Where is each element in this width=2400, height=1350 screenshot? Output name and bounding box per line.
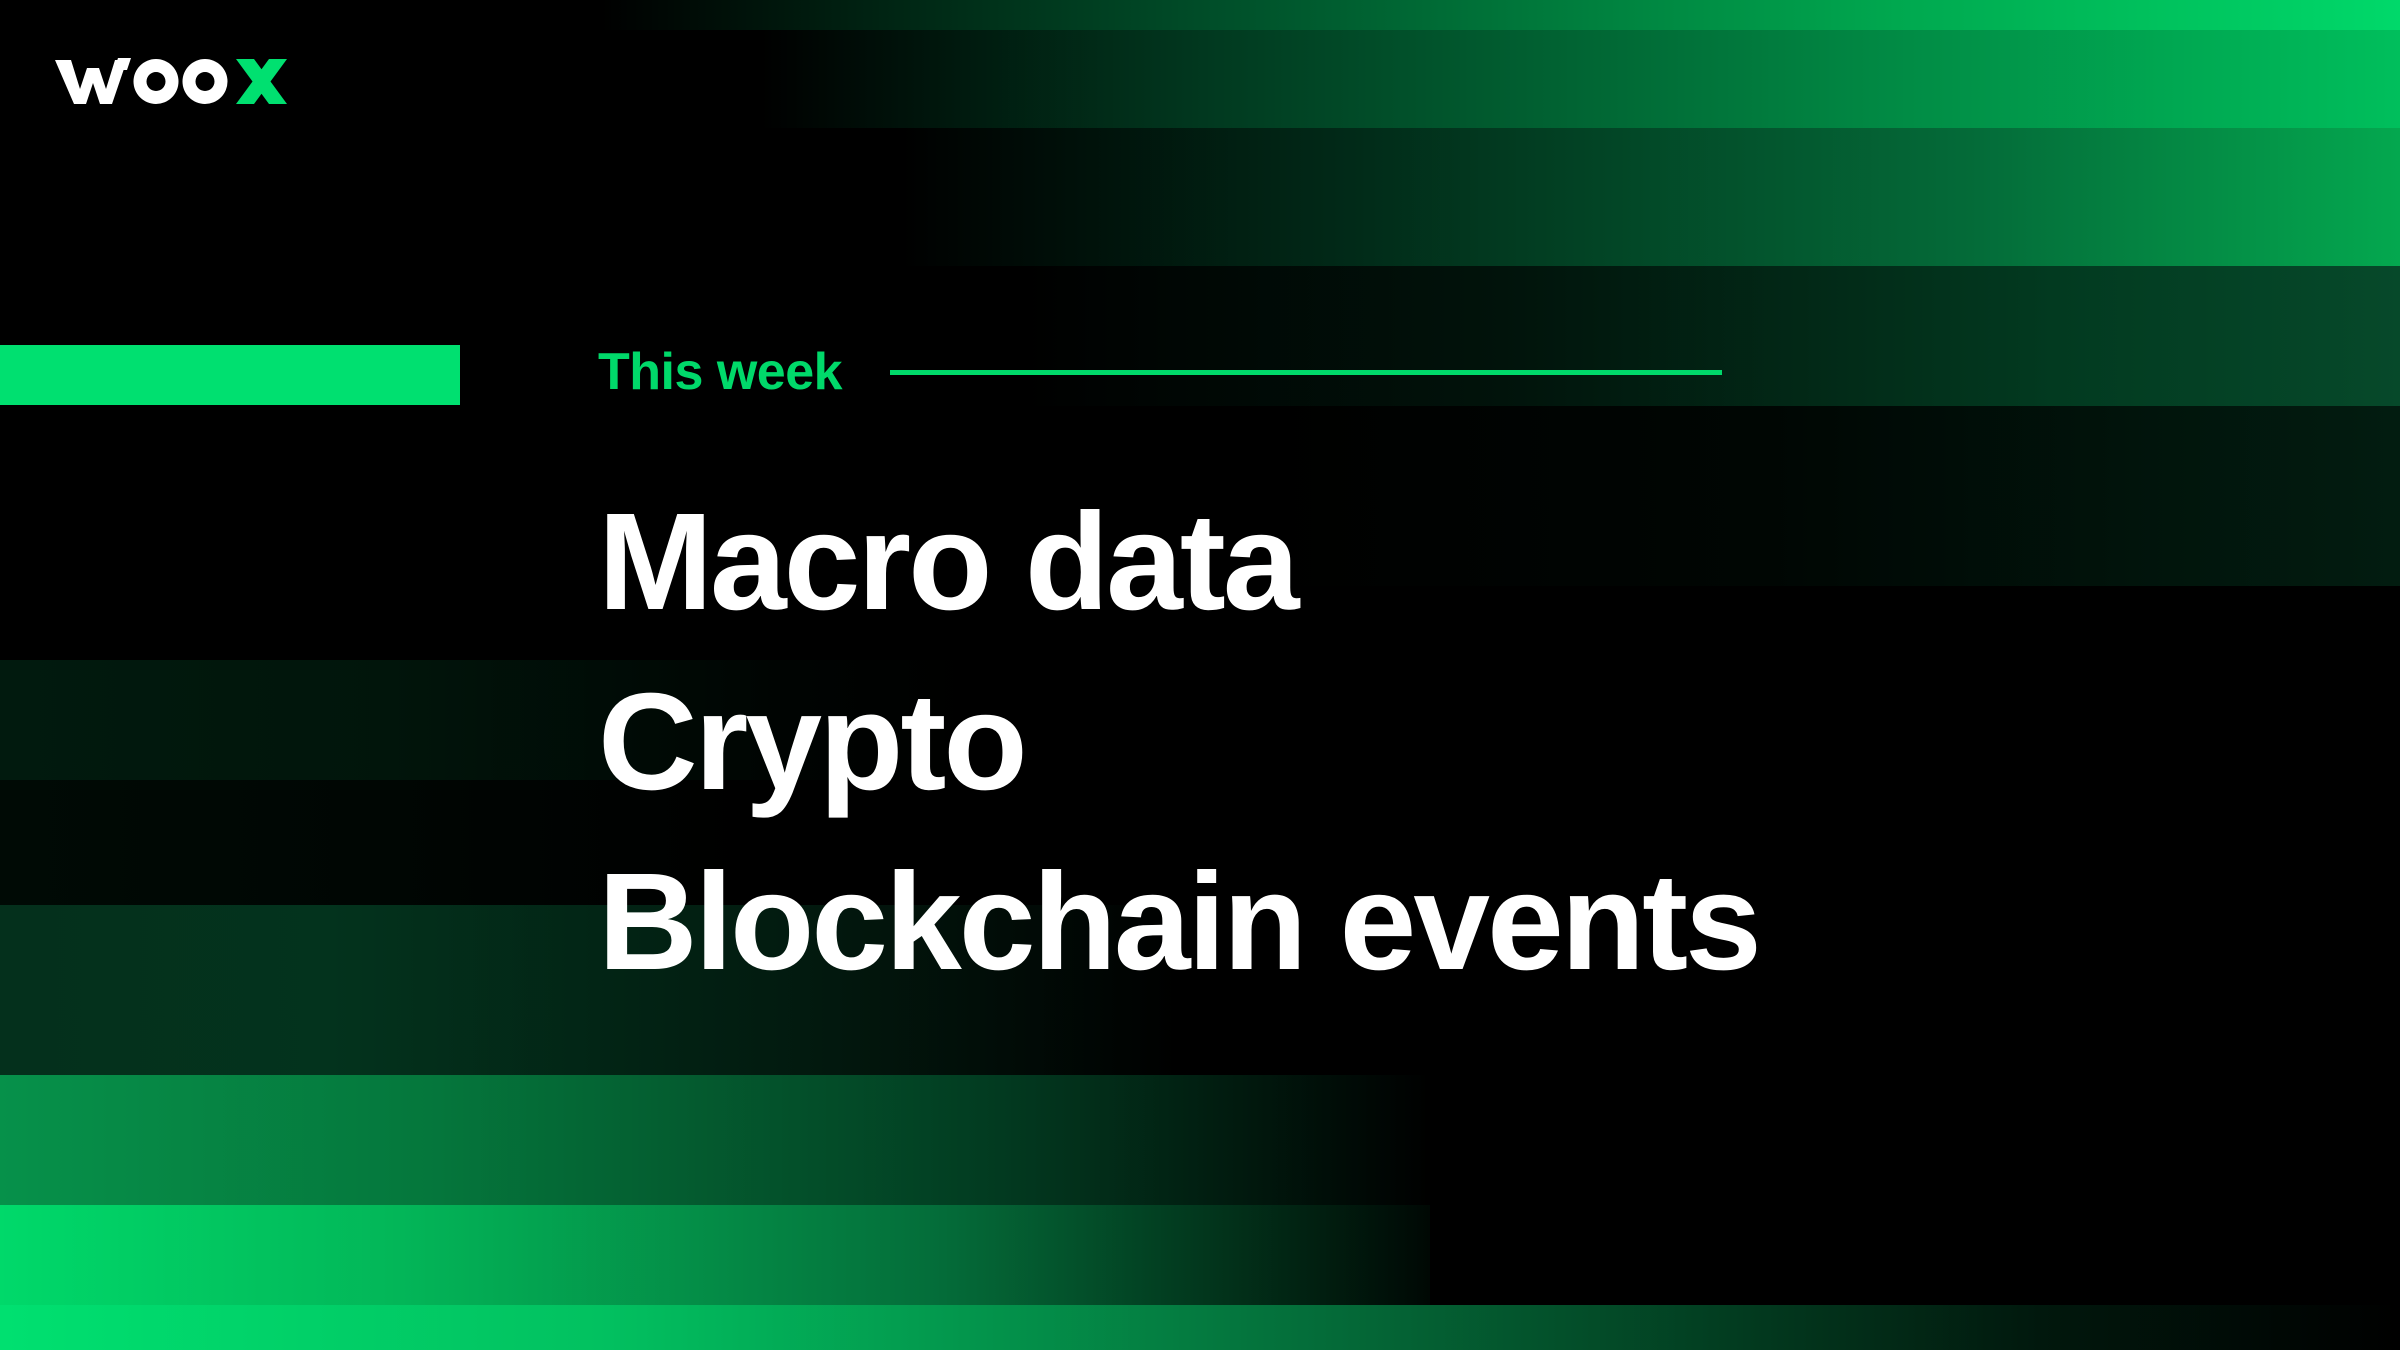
bg-stripe-bottom-3 [0, 1205, 1430, 1305]
logo-letter-o-2 [183, 59, 228, 104]
headline-line-3: Blockchain events [598, 832, 2298, 1012]
accent-bar [0, 345, 460, 405]
bg-stripe-bottom-4 [0, 1305, 2400, 1350]
woox-logo[interactable] [55, 46, 287, 104]
promo-banner: This week Macro data Crypto Blockchain e… [0, 0, 2400, 1350]
eyebrow-row: This week [598, 340, 1722, 404]
bg-stripe-top-3 [900, 128, 2400, 266]
headline-block: Macro data Crypto Blockchain events [598, 472, 2298, 1012]
bg-stripe-top-2 [760, 30, 2400, 128]
eyebrow-rule [890, 370, 1722, 375]
headline-line-2: Crypto [598, 652, 2298, 832]
logo-letter-o-1 [134, 59, 179, 104]
bg-stripe-top-1 [600, 0, 2400, 30]
logo-letter-x [236, 59, 287, 104]
bg-stripe-bottom-2 [0, 1075, 1430, 1205]
eyebrow-label: This week [598, 346, 842, 398]
headline-line-1: Macro data [598, 472, 2298, 652]
